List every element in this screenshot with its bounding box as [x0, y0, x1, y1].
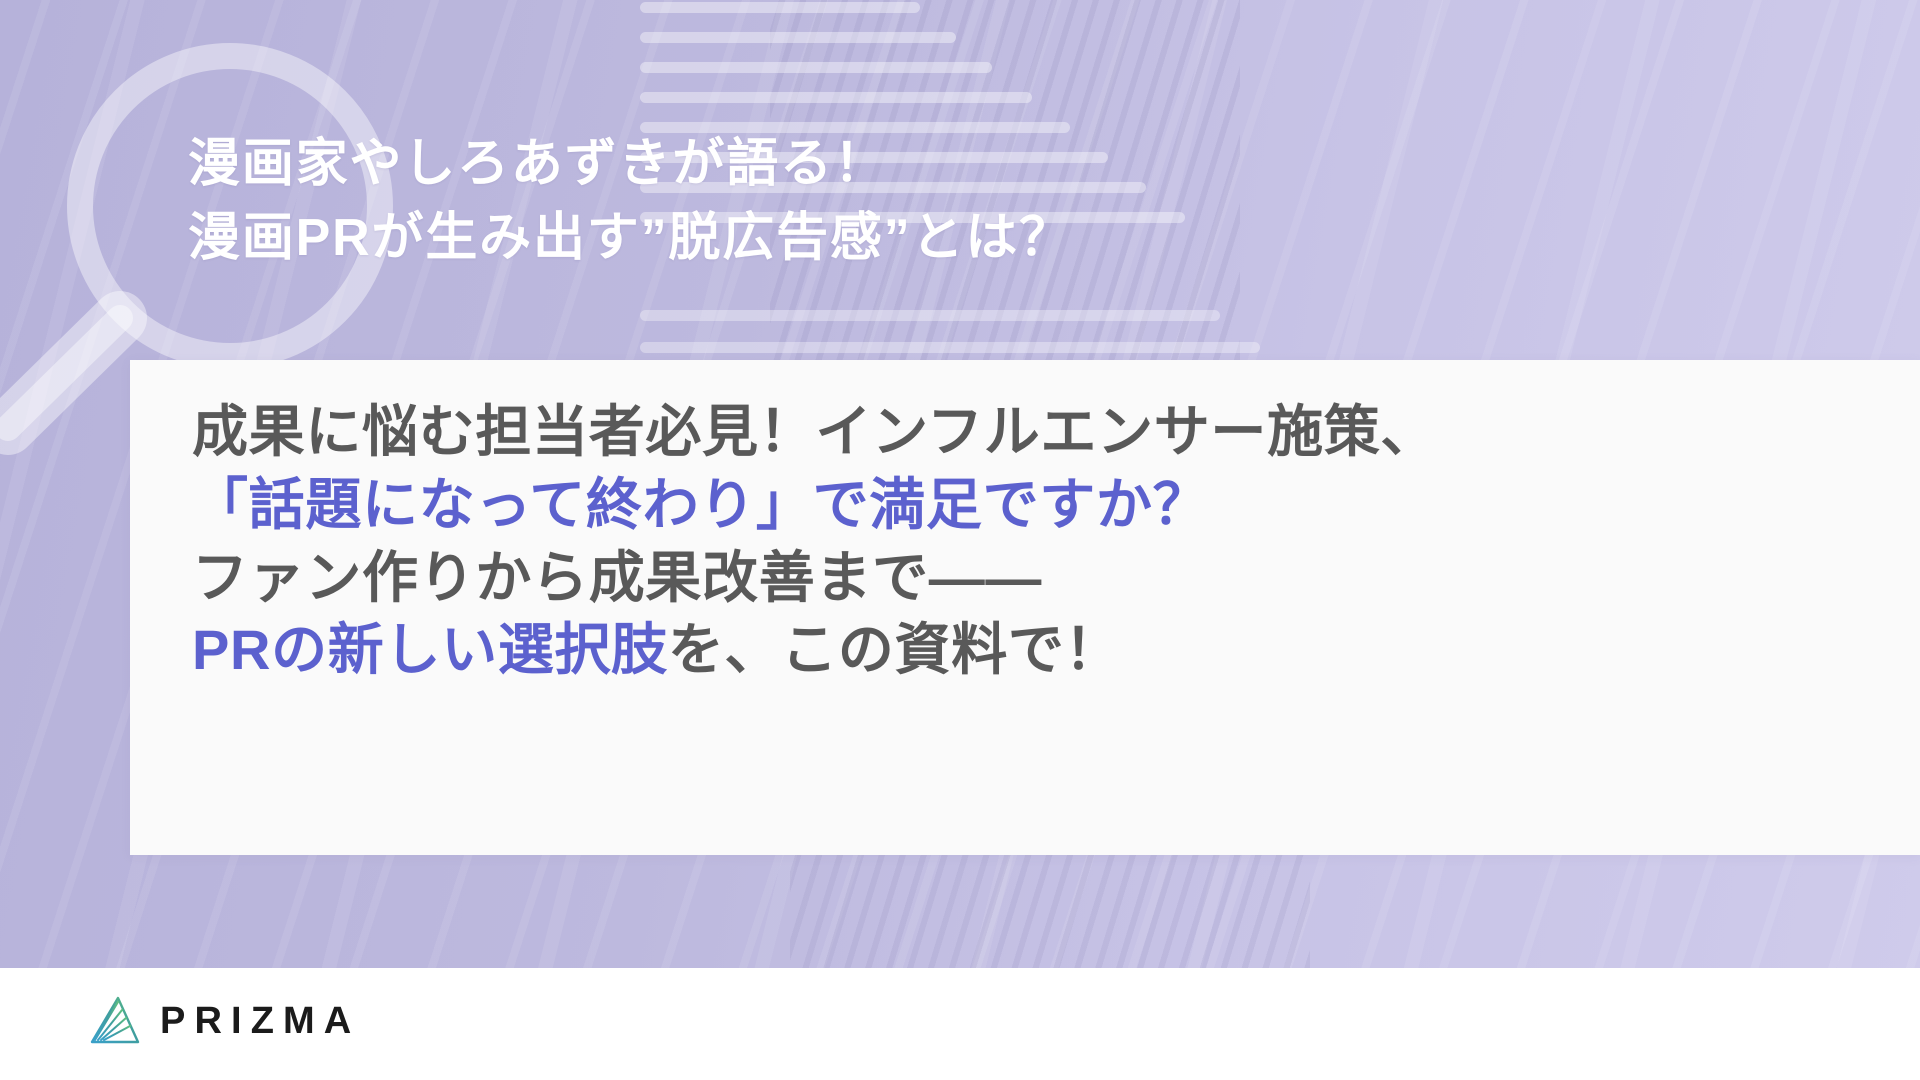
hero-title-line1: 漫画家やしろあずきが語る！: [188, 135, 888, 193]
headline-line-4-rest: を、この資料で！: [668, 618, 1121, 681]
hero-title: 漫画家やしろあずきが語る！漫画PRが生み出す”脱広告感”とは？: [188, 128, 1073, 276]
slide-root: 漫画家やしろあずきが語る！漫画PRが生み出す”脱広告感”とは？ 成果に悩む担当者…: [0, 0, 1920, 1080]
brand-logo[interactable]: PRIZMA: [88, 994, 360, 1048]
headline-card-content: 成果に悩む担当者必見！インフルエンサー施策、 「話題になって終わり」で満足ですか…: [192, 396, 1900, 687]
prism-triangle-icon: [88, 994, 142, 1048]
headline-line-1: 成果に悩む担当者必見！インフルエンサー施策、: [192, 396, 1900, 469]
headline-line-3: ファン作りから成果改善まで――: [192, 542, 1900, 615]
headline-line-4-accent: PRの新しい選択肢: [192, 618, 668, 681]
headline-line-2: 「話題になって終わり」で満足ですか？: [192, 469, 1900, 542]
headline-card: 成果に悩む担当者必見！インフルエンサー施策、 「話題になって終わり」で満足ですか…: [130, 360, 1920, 855]
hero-title-line2: 漫画PRが生み出す”脱広告感”とは？: [188, 209, 1073, 267]
brand-logo-text: PRIZMA: [160, 1002, 360, 1040]
headline-line-4: PRの新しい選択肢を、この資料で！: [192, 614, 1900, 687]
